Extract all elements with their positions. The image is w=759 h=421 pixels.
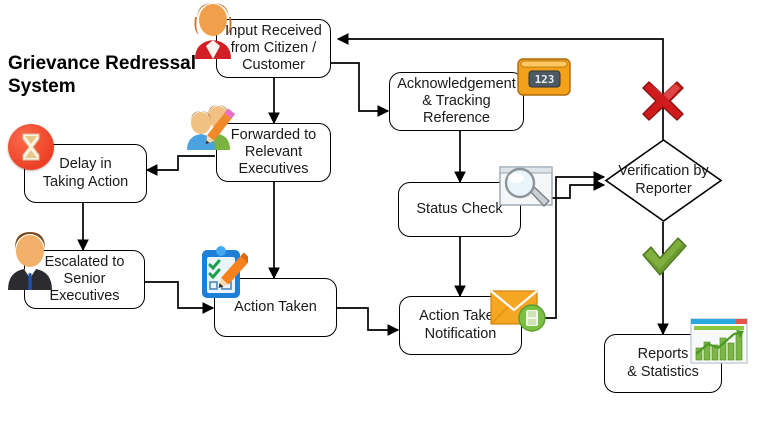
node-status-check-line1: Status Check bbox=[416, 201, 502, 218]
node-input-received-line1: Input Received bbox=[225, 23, 322, 40]
green-check-icon bbox=[637, 234, 691, 282]
numbers-123-icon: 123 bbox=[516, 57, 572, 97]
citizen-person-icon bbox=[187, 3, 239, 59]
node-delay-line2: Taking Action bbox=[43, 174, 128, 191]
node-verification-by-reporter[interactable]: Verification by Reporter bbox=[604, 138, 723, 223]
node-forwarded-line2: Relevant bbox=[231, 144, 316, 161]
diagram-title-line2: System bbox=[8, 76, 76, 97]
email-envelope-icon bbox=[490, 288, 548, 332]
node-action-taken-line1: Action Taken bbox=[234, 299, 317, 316]
node-reports-line2: & Statistics bbox=[627, 364, 699, 381]
flowchart-canvas: Grievance Redressal System Input Receive… bbox=[0, 0, 759, 421]
edge-input-to-ack bbox=[331, 63, 388, 111]
edge-action-to-notification bbox=[337, 308, 398, 330]
numbers-123-icon-text: 123 bbox=[535, 73, 555, 86]
clipboard-pencil-icon bbox=[196, 244, 248, 300]
hourglass-icon bbox=[8, 124, 54, 170]
businessman-icon bbox=[4, 232, 56, 290]
bar-chart-icon bbox=[690, 318, 748, 366]
node-acknowledgement-line1: Acknowledgement bbox=[397, 76, 516, 93]
magnifier-window-icon bbox=[498, 165, 556, 211]
node-input-received-line3: Customer bbox=[225, 57, 322, 74]
node-acknowledgement-line3: Reference bbox=[397, 110, 516, 127]
edge-forwarded-to-delay bbox=[147, 156, 215, 170]
node-forwarded-line3: Executives bbox=[231, 161, 316, 178]
node-forwarded-line1: Forwarded to bbox=[231, 127, 316, 144]
node-input-received-line2: from Citizen / bbox=[225, 40, 322, 57]
node-delay-line1: Delay in bbox=[43, 156, 128, 173]
red-cross-icon bbox=[638, 76, 688, 126]
node-verification-line1: Verification bbox=[618, 163, 689, 179]
node-reports-line1: Reports bbox=[627, 346, 699, 363]
diagram-title-line1: Grievance Redressal bbox=[8, 53, 196, 74]
two-users-edit-icon bbox=[182, 104, 238, 150]
node-acknowledgement[interactable]: Acknowledgement & Tracking Reference bbox=[389, 72, 524, 131]
node-acknowledgement-line2: & Tracking bbox=[397, 93, 516, 110]
